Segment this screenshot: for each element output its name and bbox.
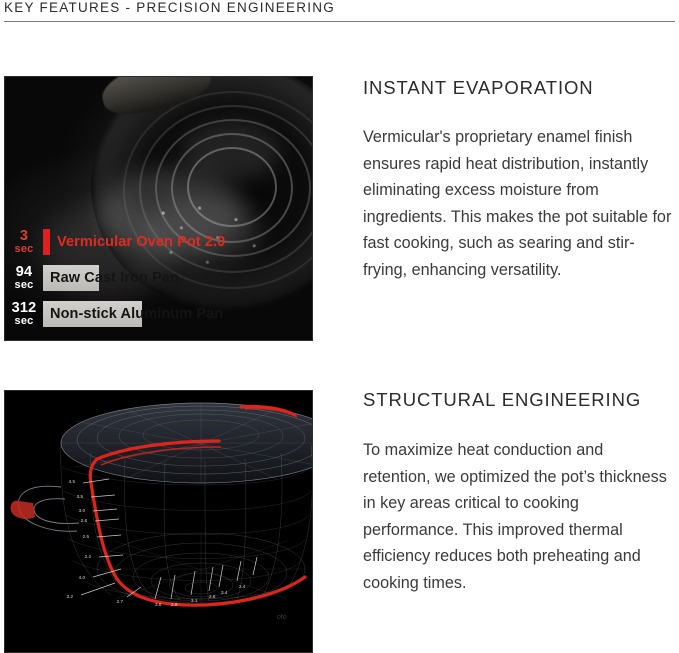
svg-text:4.0: 4.0 <box>79 575 86 580</box>
handle-accent <box>10 501 35 519</box>
cad-wireframe-svg: 4.5 3.5 3.0 2.8 2.5 2.2 4.0 3.2 2.7 3.8 … <box>5 391 312 652</box>
bar-row: 312 sec Non-stick Aluminum Pan <box>5 296 313 332</box>
bar-value-label: 3 sec <box>5 229 43 255</box>
page-title: KEY FEATURES - PRECISION ENGINEERING <box>4 0 335 15</box>
svg-text:4.5: 4.5 <box>69 479 76 484</box>
cad-wireframe-pot-diagram: 4.5 3.5 3.0 2.8 2.5 2.2 4.0 3.2 2.7 3.8 … <box>5 391 312 652</box>
feature-copy: STRUCTURAL ENGINEERING To maximize heat … <box>363 390 673 596</box>
bar-track: Non-stick Aluminum Pan <box>43 301 313 327</box>
bar-category-label: Raw Cast Iron Pan <box>43 270 179 286</box>
feature-copy: INSTANT EVAPORATION Vermicular's proprie… <box>363 78 673 283</box>
svg-text:2.9: 2.9 <box>171 602 178 607</box>
bar-value-number: 94 <box>5 265 43 280</box>
svg-text:3.0: 3.0 <box>79 508 86 513</box>
feature-section-structural-engineering: 4.5 3.5 3.0 2.8 2.5 2.2 4.0 3.2 2.7 3.8 … <box>0 390 679 653</box>
svg-text:2.7: 2.7 <box>117 599 124 604</box>
bar-value-label: 94 sec <box>5 265 43 291</box>
svg-text:3.5: 3.5 <box>77 494 84 499</box>
bar-value-unit: sec <box>5 244 43 255</box>
header-divider <box>4 21 675 22</box>
feature-media-cad-diagram: 4.5 3.5 3.0 2.8 2.5 2.2 4.0 3.2 2.7 3.8 … <box>4 390 313 653</box>
bar-category-label: Non-stick Aluminum Pan <box>43 306 223 322</box>
feature-section-instant-evaporation: 3 sec Vermicular Oven Pot 2.0 94 sec Raw… <box>0 76 679 342</box>
svg-text:2.8: 2.8 <box>81 518 88 523</box>
svg-text:3.4: 3.4 <box>221 590 228 595</box>
svg-text:3.8: 3.8 <box>155 602 162 607</box>
svg-text:2.4: 2.4 <box>239 584 246 589</box>
feature-body-text: Vermicular's proprietary enamel finish e… <box>363 124 673 283</box>
svg-text:3.1: 3.1 <box>191 598 198 603</box>
bar-value-label: 312 sec <box>5 301 43 327</box>
bar-track: Raw Cast Iron Pan <box>43 265 313 291</box>
bar-track: Vermicular Oven Pot 2.0 <box>43 229 313 255</box>
svg-text:2.6: 2.6 <box>209 594 216 599</box>
bar-value-unit: sec <box>5 280 43 291</box>
svg-text:oto: oto <box>277 614 287 621</box>
bar-row: 3 sec Vermicular Oven Pot 2.0 <box>5 224 313 260</box>
svg-text:3.2: 3.2 <box>67 594 74 599</box>
bar-value-number: 3 <box>5 229 43 244</box>
feature-heading: STRUCTURAL ENGINEERING <box>363 390 673 410</box>
page-header: KEY FEATURES - PRECISION ENGINEERING <box>4 0 675 30</box>
bar-value-unit: sec <box>5 316 43 327</box>
bar-row: 94 sec Raw Cast Iron Pan <box>5 260 313 296</box>
bar-value-number: 312 <box>5 301 43 316</box>
evaporation-time-bar-chart: 3 sec Vermicular Oven Pot 2.0 94 sec Raw… <box>5 224 313 332</box>
bar-category-label: Vermicular Oven Pot 2.0 <box>43 234 225 250</box>
svg-text:2.2: 2.2 <box>85 554 92 559</box>
feature-media-steam-photo: 3 sec Vermicular Oven Pot 2.0 94 sec Raw… <box>4 76 313 341</box>
feature-heading: INSTANT EVAPORATION <box>363 78 673 98</box>
feature-body-text: To maximize heat conduction and retentio… <box>363 437 673 596</box>
svg-text:2.5: 2.5 <box>83 534 90 539</box>
